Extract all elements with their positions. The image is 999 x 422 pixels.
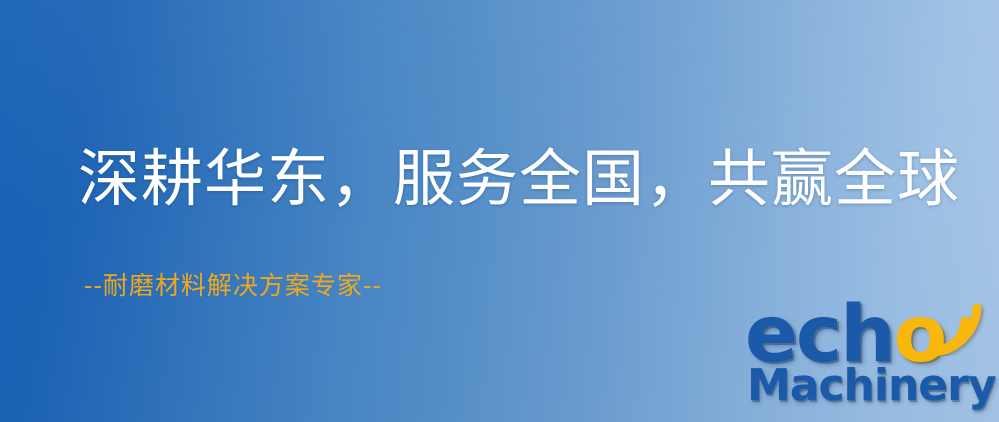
banner-headline: 深耕华东，服务全国，共赢全球 — [78, 146, 960, 211]
logo-subword-text: Machinery — [747, 360, 996, 411]
logo-subword: Machinery® — [747, 364, 999, 408]
company-logo: echo Machinery® — [745, 296, 999, 422]
signal-waves-icon — [925, 294, 997, 356]
registered-trademark-icon: ® — [996, 373, 999, 403]
promo-banner: 深耕华东，服务全国，共赢全球 --耐磨材料解决方案专家-- echo Machi… — [0, 0, 999, 422]
banner-subtitle: --耐磨材料解决方案专家-- — [84, 266, 382, 302]
